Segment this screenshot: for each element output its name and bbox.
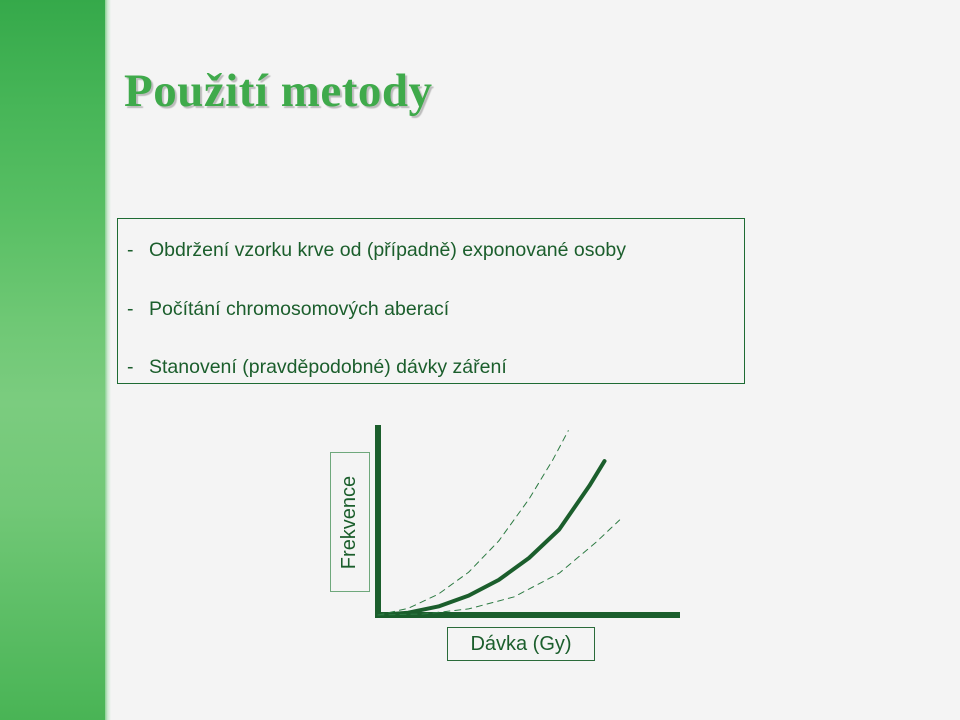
x-axis-label-box: Dávka (Gy) bbox=[447, 627, 595, 661]
sidebar-decorative-band bbox=[0, 0, 105, 720]
chart-axes bbox=[375, 425, 680, 615]
bullet-text: Počítání chromosomových aberací bbox=[149, 298, 449, 321]
chart-curve-0 bbox=[378, 461, 605, 615]
list-item: - Počítání chromosomových aberací bbox=[127, 298, 449, 321]
chart-series-group bbox=[378, 431, 620, 615]
bullet-text: Obdržení vzorku krve od (případně) expon… bbox=[149, 239, 626, 262]
x-axis-label: Dávka (Gy) bbox=[470, 633, 571, 656]
chart-curve-1 bbox=[378, 431, 568, 615]
bullet-text: Stanovení (pravděpodobné) dávky záření bbox=[149, 356, 507, 379]
dose-response-chart: Frekvence Dávka (Gy) bbox=[320, 395, 720, 685]
bullet-dash-marker: - bbox=[127, 356, 149, 379]
page-title: Použití metody bbox=[124, 63, 433, 119]
list-item: - Stanovení (pravděpodobné) dávky záření bbox=[127, 356, 507, 379]
sidebar-band-edge bbox=[105, 0, 111, 720]
bullet-dash-marker: - bbox=[127, 239, 149, 262]
bullet-list-box: - Obdržení vzorku krve od (případně) exp… bbox=[117, 218, 745, 384]
list-item: - Obdržení vzorku krve od (případně) exp… bbox=[127, 239, 626, 262]
slide-canvas: Použití metody - Obdržení vzorku krve od… bbox=[0, 0, 960, 720]
y-axis-label: Frekvence bbox=[339, 475, 362, 568]
bullet-dash-marker: - bbox=[127, 298, 149, 321]
chart-curve-2 bbox=[378, 520, 620, 615]
y-axis-label-box: Frekvence bbox=[330, 452, 370, 592]
